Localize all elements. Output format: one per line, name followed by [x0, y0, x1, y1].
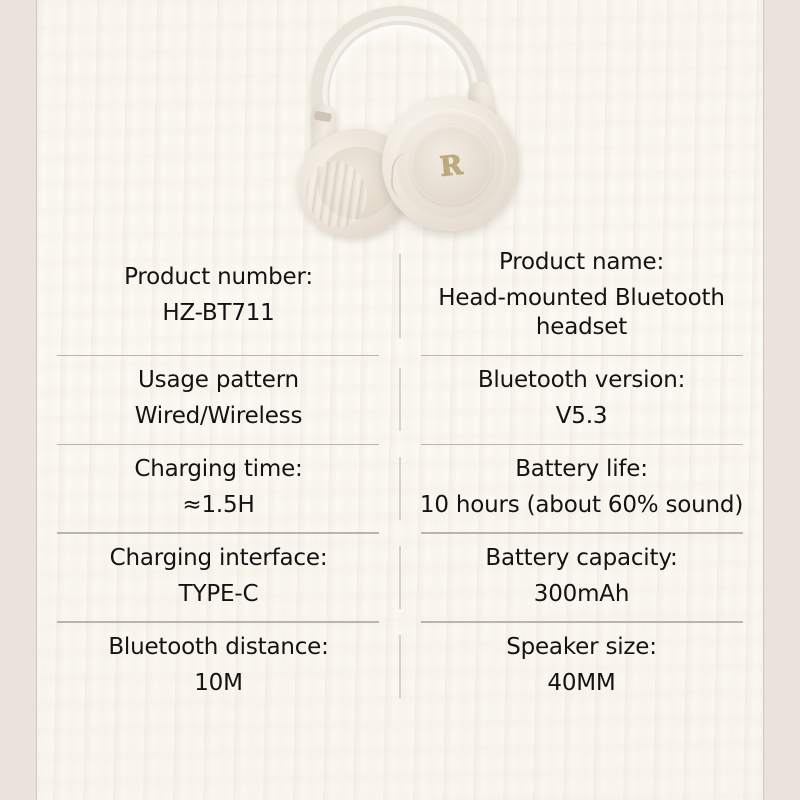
column-separator — [400, 546, 401, 609]
spec-cell-bluetooth-version: Bluetooth version: V5.3 — [400, 356, 763, 443]
spec-label: Charging time: — [51, 455, 386, 485]
earcup-seam — [390, 152, 429, 200]
spec-cell-battery-life: Battery life: 10 hours (about 60% sound) — [400, 445, 763, 532]
table-row: Charging time: ≈1.5H Battery life: 10 ho… — [37, 445, 763, 532]
spec-value: 40MM — [414, 669, 749, 698]
spec-value: V5.3 — [414, 402, 749, 431]
spec-label: Product number: — [51, 263, 386, 293]
product-photo: R — [37, 0, 763, 238]
spec-value: Head-mounted Bluetooth headset — [414, 284, 749, 343]
spec-value: HZ-BT711 — [51, 299, 386, 328]
spec-label: Product name: — [414, 248, 749, 278]
spec-cell-product-name: Product name: Head-mounted Bluetooth hea… — [400, 238, 763, 355]
spec-label: Usage pattern — [51, 366, 386, 396]
spec-label: Bluetooth version: — [414, 366, 749, 396]
brand-logo-icon: R — [435, 149, 468, 184]
headphones-illustration: R — [274, 0, 527, 243]
spec-label: Charging interface: — [51, 544, 386, 574]
spec-cell-charging-interface: Charging interface: TYPE-C — [37, 534, 400, 621]
spec-value: Wired/Wireless — [51, 402, 386, 431]
spec-cell-battery-capacity: Battery capacity: 300mAh — [400, 534, 763, 621]
right-border-band — [763, 0, 800, 800]
spec-value: 10 hours (about 60% sound) — [414, 491, 749, 520]
spec-value: 300mAh — [414, 580, 749, 609]
specification-table: Product number: HZ-BT711 Product name: H… — [37, 238, 763, 710]
table-row: Charging interface: TYPE-C Battery capac… — [37, 534, 763, 621]
column-separator — [400, 254, 401, 338]
table-row: Product number: HZ-BT711 Product name: H… — [37, 238, 763, 355]
spec-cell-speaker-size: Speaker size: 40MM — [400, 623, 763, 710]
spec-label: Battery capacity: — [414, 544, 749, 574]
column-separator — [400, 635, 401, 698]
spec-cell-bluetooth-distance: Bluetooth distance: 10M — [37, 623, 400, 710]
spec-cell-product-number: Product number: HZ-BT711 — [37, 238, 400, 355]
column-separator — [400, 368, 401, 431]
spec-value: 10M — [51, 669, 386, 698]
left-border-band — [0, 0, 37, 800]
spec-label: Speaker size: — [414, 633, 749, 663]
spec-cell-charging-time: Charging time: ≈1.5H — [37, 445, 400, 532]
column-separator — [400, 457, 401, 520]
spec-label: Battery life: — [414, 455, 749, 485]
spec-value: TYPE-C — [51, 580, 386, 609]
table-row: Bluetooth distance: 10M Speaker size: 40… — [37, 623, 763, 710]
spec-cell-usage-pattern: Usage pattern Wired/Wireless — [37, 356, 400, 443]
table-row: Usage pattern Wired/Wireless Bluetooth v… — [37, 356, 763, 443]
paper-sheet: R Product number: HZ-BT711 Product name:… — [37, 0, 763, 800]
spec-value: ≈1.5H — [51, 491, 386, 520]
spec-label: Bluetooth distance: — [51, 633, 386, 663]
product-spec-page: R Product number: HZ-BT711 Product name:… — [0, 0, 800, 800]
